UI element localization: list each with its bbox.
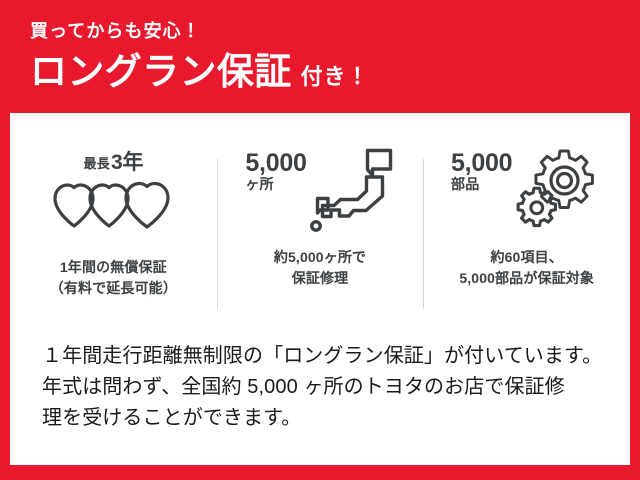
caption-line-2: 保証修理 xyxy=(274,268,366,289)
header-eyebrow: 買ってからも安心！ xyxy=(30,22,640,40)
caption-line-1: 1年間の無償保証 xyxy=(50,257,177,278)
feature-stat: 最長 3年 xyxy=(83,147,143,177)
japan-map-icon xyxy=(309,147,395,240)
header-title-row: ロングラン保証 付き！ xyxy=(30,53,640,90)
body-line-3: 理を受けることができます。 xyxy=(42,403,604,434)
stat-unit: 部品 xyxy=(451,176,480,194)
caption-line-2: （有料で延長可能） xyxy=(50,278,177,299)
stat-kicker: 最長 xyxy=(83,157,110,171)
three-hearts-icon xyxy=(52,181,174,234)
caption-line-1: 約60項目、 xyxy=(459,247,594,268)
banner-header: 買ってからも安心！ ロングラン保証 付き！ xyxy=(0,0,640,113)
stat-inline: 最長 3年 xyxy=(83,152,143,173)
feature-caption: 1年間の無償保証 （有料で延長可能） xyxy=(50,257,177,299)
stat-text: 5,000 部品 xyxy=(451,147,512,194)
feature-caption: 約60項目、 5,000部品が保証対象 xyxy=(459,247,594,289)
feature-covered-parts: 5,000 部品 xyxy=(423,147,630,322)
header-title: ロングラン保証 xyxy=(30,53,292,90)
header-title-suffix: 付き！ xyxy=(301,66,370,88)
body-line-1: １年間走行距離無制限の「ロングラン保証」が付いています。 xyxy=(42,341,604,372)
body-description: １年間走行距離無制限の「ロングラン保証」が付いています。 年式は問わず、全国約 … xyxy=(42,341,604,434)
caption-line-1: 約5,000ヶ所で xyxy=(274,247,366,268)
content-panel: 最長 3年 1年間の無償保証 （有料で延長可能） xyxy=(10,113,630,465)
stat-text: 5,000 ヶ所 xyxy=(245,147,306,194)
longrun-warranty-banner: 買ってからも安心！ ロングラン保証 付き！ 最長 3年 xyxy=(0,0,640,480)
feature-caption: 約5,000ヶ所で 保証修理 xyxy=(274,247,366,289)
stat-unit: ヶ所 xyxy=(245,176,274,194)
stat-value: 5,000 xyxy=(245,151,306,176)
feature-service-locations: 5,000 ヶ所 xyxy=(217,147,424,322)
feature-warranty-term: 最長 3年 1年間の無償保証 （有料で延長可能） xyxy=(10,147,217,322)
gears-icon xyxy=(514,147,602,240)
feature-columns: 最長 3年 1年間の無償保証 （有料で延長可能） xyxy=(10,147,630,322)
feature-stat: 5,000 ヶ所 xyxy=(245,147,394,235)
caption-line-2: 5,000部品が保証対象 xyxy=(459,268,594,289)
stat-value: 3年 xyxy=(111,152,143,173)
feature-stat: 5,000 部品 xyxy=(451,147,602,235)
stat-value: 5,000 xyxy=(451,151,512,176)
body-line-2: 年式は問わず、全国約 5,000 ヶ所のトヨタのお店で保証修 xyxy=(42,372,604,403)
